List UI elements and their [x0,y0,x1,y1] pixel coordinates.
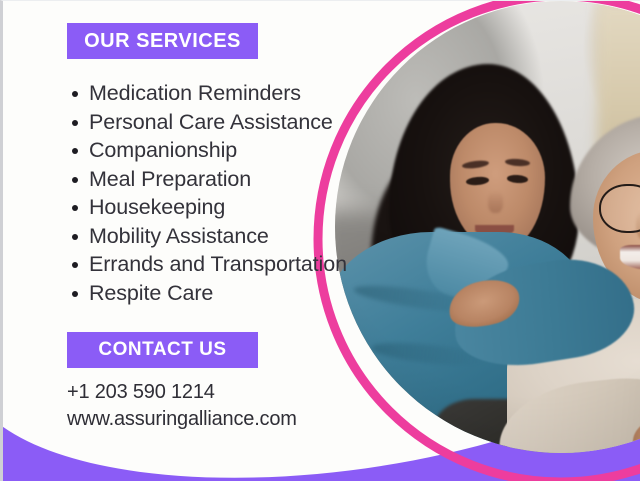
contact-us-badge: CONTACT US [67,332,258,368]
service-item: Personal Care Assistance [89,110,379,136]
contact-phone: +1 203 590 1214 [67,379,367,406]
poster-canvas: OUR SERVICES Medication Reminders Person… [0,0,640,481]
hero-photo [335,1,640,453]
hero-photo-image [335,1,640,453]
services-list: Medication Reminders Personal Care Assis… [65,81,379,309]
service-item: Housekeeping [89,195,379,221]
service-item: Meal Preparation [89,167,379,193]
service-item: Errands and Transportation [89,252,379,278]
service-item: Medication Reminders [89,81,379,107]
content-panel: OUR SERVICES Medication Reminders Person… [3,1,343,481]
our-services-badge: OUR SERVICES [67,23,258,59]
contact-details: +1 203 590 1214 www.assuringalliance.com [67,379,367,433]
service-item: Companionship [89,138,379,164]
photo-vignette [335,1,640,453]
service-item: Respite Care [89,281,379,307]
contact-website: www.assuringalliance.com [67,406,367,433]
service-item: Mobility Assistance [89,224,379,250]
